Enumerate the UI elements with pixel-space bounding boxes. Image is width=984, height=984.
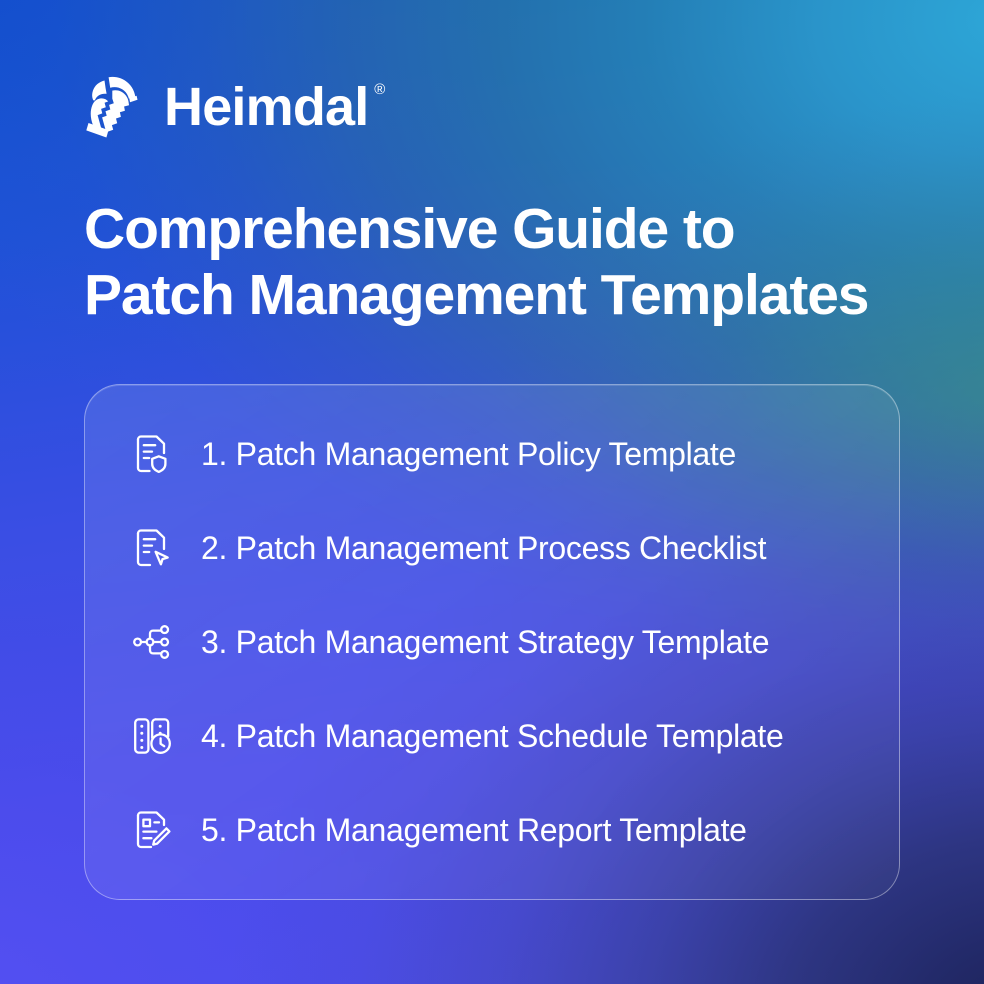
page-title-line-2: Patch Management Templates [84, 262, 924, 328]
list-item: 5. Patch Management Report Template [129, 801, 855, 859]
list-item: 2. Patch Management Process Checklist [129, 519, 855, 577]
page-title: Comprehensive Guide to Patch Management … [84, 196, 924, 328]
node-hierarchy-icon [129, 619, 175, 665]
list-item: 4. Patch Management Schedule Template [129, 707, 855, 765]
document-pencil-icon [129, 807, 175, 853]
viking-warrior-head-icon [84, 74, 148, 140]
server-clock-icon [129, 713, 175, 759]
document-cursor-icon [129, 525, 175, 571]
list-item-label: 5. Patch Management Report Template [201, 814, 747, 846]
list-item: 1. Patch Management Policy Template [129, 425, 855, 483]
page-title-line-1: Comprehensive Guide to [84, 196, 924, 262]
poster-canvas: Heimdal® Comprehensive Guide to Patch Ma… [0, 0, 984, 984]
list-item-label: 4. Patch Management Schedule Template [201, 720, 783, 752]
list-item-label: 2. Patch Management Process Checklist [201, 532, 766, 564]
brand-name-text: Heimdal [164, 77, 368, 137]
list-item: 3. Patch Management Strategy Template [129, 613, 855, 671]
list-item-label: 3. Patch Management Strategy Template [201, 626, 769, 658]
brand-lockup: Heimdal® [84, 74, 368, 140]
list-item-label: 1. Patch Management Policy Template [201, 438, 736, 470]
registered-trademark-symbol: ® [374, 82, 384, 97]
brand-wordmark: Heimdal® [164, 80, 368, 134]
templates-list-card: 1. Patch Management Policy Template 2. P… [84, 384, 900, 900]
document-shield-icon [129, 431, 175, 477]
